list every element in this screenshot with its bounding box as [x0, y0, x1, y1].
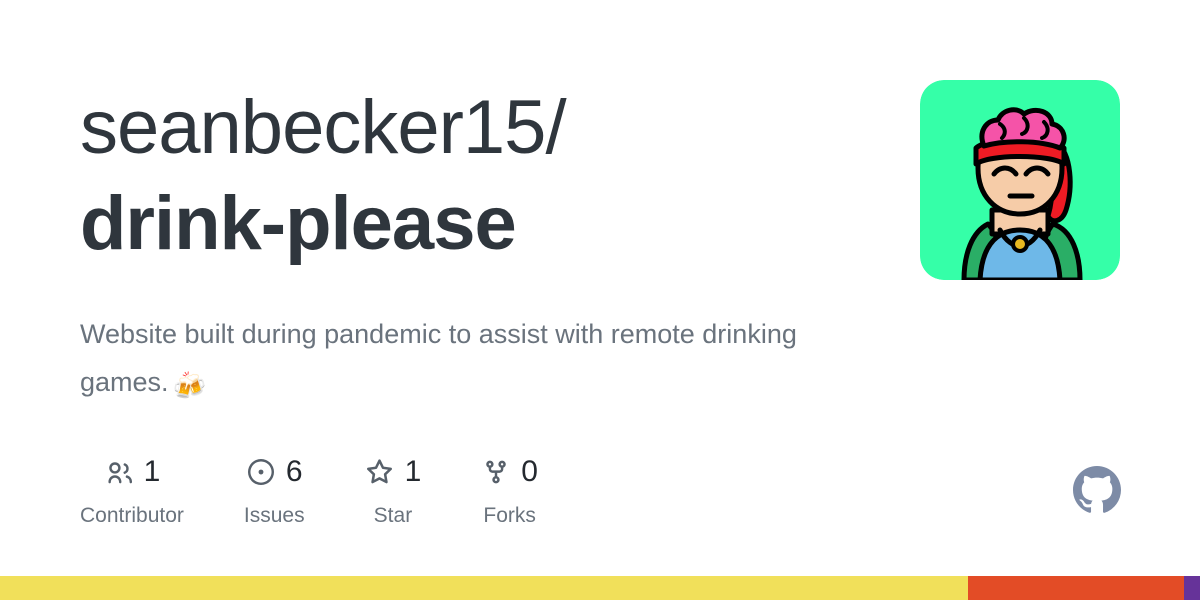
repo-forked-icon [481, 457, 511, 487]
repository-description: Website built during pandemic to assist … [80, 310, 880, 410]
stat-value: 1 [405, 457, 422, 487]
star-icon [365, 457, 395, 487]
stat-value: 0 [521, 457, 538, 487]
stat-label: Forks [483, 504, 536, 528]
card-header: seanbecker15/ drink-please [80, 80, 1120, 280]
stat-stars[interactable]: 1 Star [365, 452, 422, 528]
owner-avatar[interactable] [920, 80, 1120, 280]
repository-owner[interactable]: seanbecker15/ [80, 80, 566, 176]
repository-name[interactable]: drink-please [80, 176, 566, 272]
stat-label: Issues [244, 504, 305, 528]
stat-label: Star [374, 504, 413, 528]
beer-mugs-emoji: 🍻 [173, 362, 207, 410]
stat-value: 6 [286, 457, 303, 487]
stat-label: Contributor [80, 504, 184, 528]
github-mark-icon [1073, 466, 1121, 514]
repository-social-preview-card: seanbecker15/ drink-please [0, 0, 1200, 600]
language-segment-html [968, 576, 1184, 600]
people-icon [104, 457, 134, 487]
repository-title-block: seanbecker15/ drink-please [80, 80, 566, 272]
language-bar [0, 576, 1200, 600]
stat-issues[interactable]: 6 Issues [244, 452, 305, 528]
page-title: seanbecker15/ drink-please [80, 80, 566, 272]
stat-top-row: 0 [481, 452, 538, 492]
issue-opened-icon [246, 457, 276, 487]
stat-top-row: 1 [365, 452, 422, 492]
stat-value: 1 [144, 457, 161, 487]
stat-top-row: 1 [104, 452, 161, 492]
language-segment-javascript [0, 576, 968, 600]
repository-stats: 1 Contributor 6 Issues [80, 452, 598, 528]
stat-top-row: 6 [246, 452, 303, 492]
stat-forks[interactable]: 0 Forks [481, 452, 538, 528]
language-segment-css [1184, 576, 1200, 600]
stat-contributors[interactable]: 1 Contributor [80, 452, 184, 528]
